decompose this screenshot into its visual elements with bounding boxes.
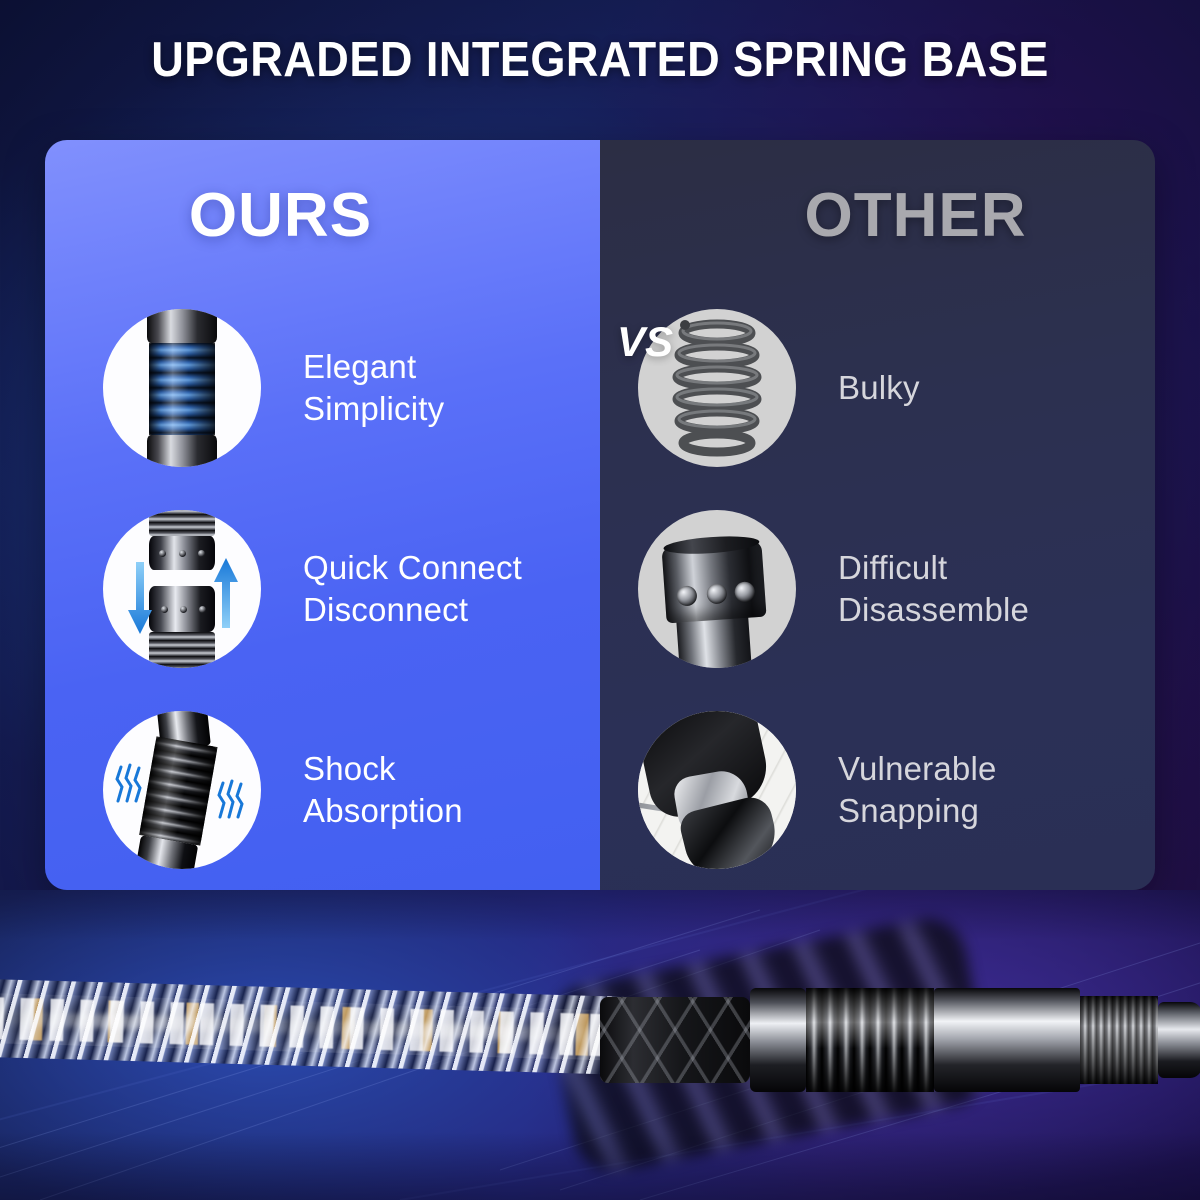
- ours-feature-list: Elegant Simplicity: [45, 288, 600, 890]
- feature-label-line2: Snapping: [838, 790, 997, 832]
- vs-label: VS: [617, 316, 673, 368]
- hero-fade-overlay: [0, 890, 1200, 1200]
- feature-label-line2: Absorption: [303, 790, 463, 832]
- broken-fitting-icon: [638, 711, 796, 869]
- comparison-card: OURS Elegant Simpl: [45, 140, 1155, 890]
- spring-base-icon: [103, 309, 261, 467]
- chrome-fitting-icon: [638, 510, 796, 668]
- other-feature-list: Bulky: [600, 288, 1155, 890]
- feature-label-line1: Bulky: [838, 369, 920, 406]
- feature-label-line1: Elegant: [303, 348, 416, 385]
- ours-heading: OURS: [45, 178, 558, 254]
- feature-label: Quick Connect Disconnect: [303, 547, 522, 631]
- other-heading: OTHER: [638, 178, 1155, 254]
- ours-panel: OURS Elegant Simpl: [45, 140, 600, 890]
- feature-label: Vulnerable Snapping: [838, 748, 997, 832]
- feature-label: Bulky: [838, 367, 920, 409]
- vibration-right-icon: [217, 779, 247, 823]
- quick-connect-icon: [103, 510, 261, 668]
- arrow-up-icon: [213, 556, 239, 630]
- infographic-page: UPGRADED INTEGRATED SPRING BASE OURS: [0, 0, 1200, 1200]
- vibration-left-icon: [115, 763, 145, 807]
- feature-label-line1: Shock: [303, 750, 396, 787]
- feature-label-line1: Quick Connect: [303, 549, 522, 586]
- feature-label-line2: Disassemble: [838, 589, 1029, 631]
- other-panel: OTHER: [600, 140, 1155, 890]
- list-item: Shock Absorption: [45, 689, 600, 890]
- list-item: Vulnerable Snapping: [600, 689, 1155, 890]
- feature-label: Difficult Disassemble: [838, 547, 1029, 631]
- hero-product-image: [0, 890, 1200, 1200]
- list-item: Elegant Simplicity: [45, 288, 600, 489]
- feature-label-line1: Vulnerable: [838, 750, 997, 787]
- feature-label: Shock Absorption: [303, 748, 463, 832]
- feature-label-line1: Difficult: [838, 549, 947, 586]
- list-item: Quick Connect Disconnect: [45, 489, 600, 690]
- shock-absorption-icon: [103, 711, 261, 869]
- feature-label-line2: Simplicity: [303, 388, 444, 430]
- list-item: Bulky: [600, 288, 1155, 489]
- arrow-down-icon: [127, 562, 153, 636]
- page-title: UPGRADED INTEGRATED SPRING BASE: [48, 28, 1152, 92]
- feature-label-line2: Disconnect: [303, 589, 522, 631]
- feature-label: Elegant Simplicity: [303, 346, 444, 430]
- list-item: Difficult Disassemble: [600, 489, 1155, 690]
